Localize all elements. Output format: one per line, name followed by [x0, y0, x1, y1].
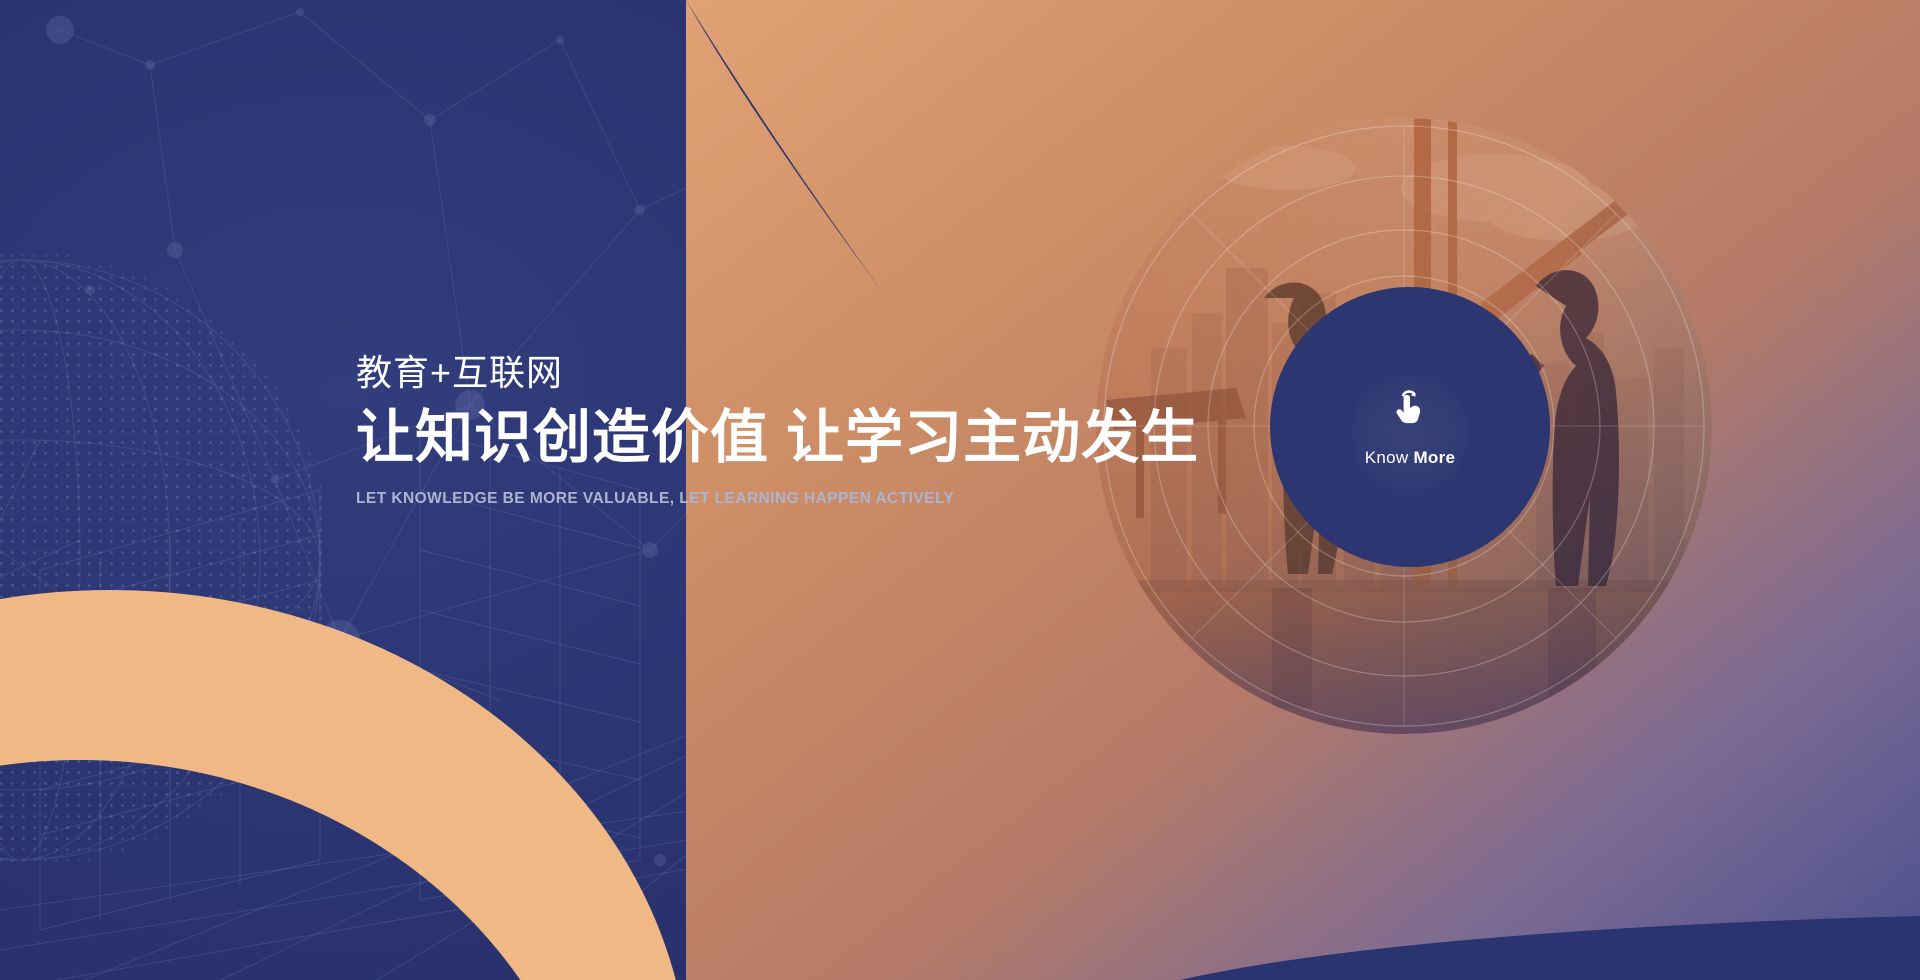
touch-tap-icon — [1389, 386, 1431, 428]
hero-eyebrow: 教育+互联网 — [356, 350, 1256, 395]
know-more-label-regular: Know — [1365, 448, 1414, 467]
hero-subcopy: LET KNOWLEDGE BE MORE VALUABLE, LET LEAR… — [356, 490, 1256, 508]
know-more-button[interactable]: Know More — [1270, 287, 1550, 567]
hero-copy-block: 教育+互联网 让知识创造价值 让学习主动发生 LET KNOWLEDGE BE … — [356, 350, 1256, 508]
peach-crescent-shape — [0, 590, 780, 980]
page-title: 让知识创造价值 让学习主动发生 — [356, 403, 1256, 474]
know-more-label: Know More — [1365, 448, 1456, 468]
know-more-label-bold: More — [1413, 448, 1455, 467]
hero-banner: 教育+互联网 让知识创造价值 让学习主动发生 LET KNOWLEDGE BE … — [0, 0, 1920, 980]
